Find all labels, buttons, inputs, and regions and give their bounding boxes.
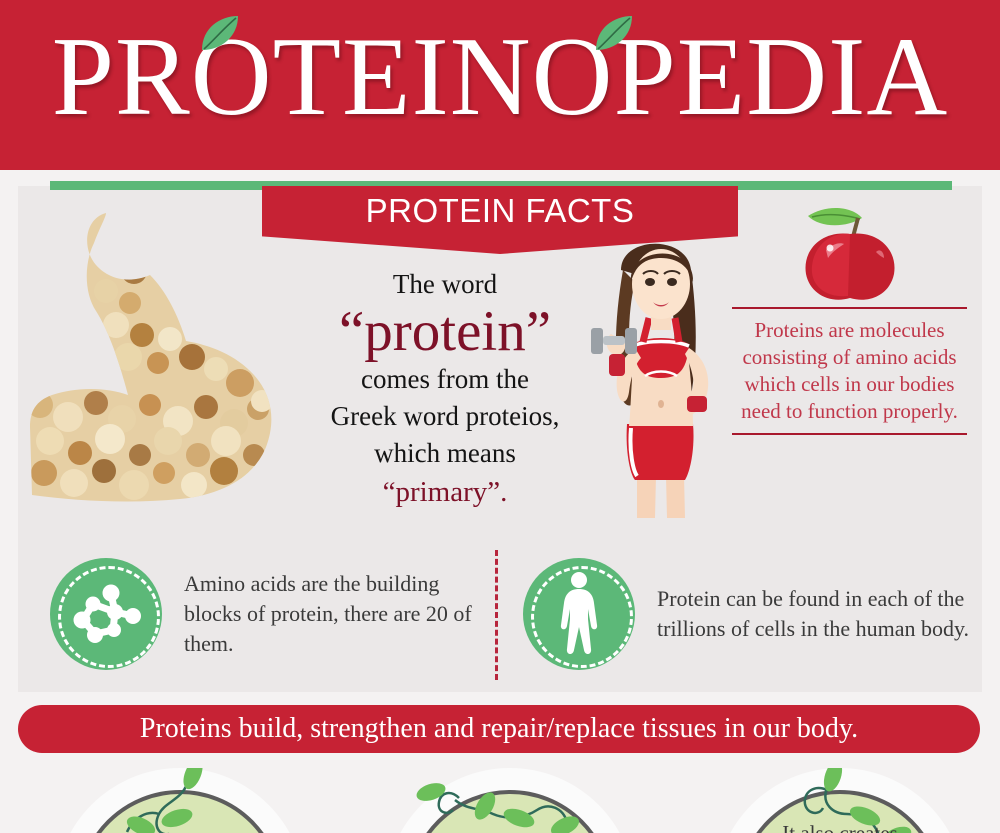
quote-line-2: comes from the [300,361,590,398]
fact-row: Amino acids are the building blocks of p… [18,546,982,686]
human-body-icon [555,571,603,657]
infographic-page: PROTEINOPEDIA PROTEIN FACTS [0,0,1000,833]
right-fact-box: Proteins are molecules consisting of ami… [732,307,967,435]
bottom-circle-3: It also creates [715,768,965,833]
fact-text: Protein can be found in each of the tril… [635,584,973,644]
quote-line-1: The word [300,266,590,303]
vine-leaves-icon [385,768,635,833]
bottom-circle-row: It also creates [0,768,1000,833]
quote-highlight-primary: “primary”. [300,472,590,512]
right-fact-text: Proteins are molecules consisting of ami… [732,309,967,433]
fact-divider [495,550,498,680]
bottom-circle-caption: It also creates [715,820,965,833]
molecule-icon [71,582,141,646]
protein-quote: The word “protein” comes from the Greek … [300,266,590,512]
fitness-woman-dumbbell-image [565,218,745,528]
fact-trillions-cells: Protein can be found in each of the tril… [523,546,973,682]
divider-bottom [732,433,967,435]
page-title: PROTEINOPEDIA [0,18,1000,136]
summary-banner-text: Proteins build, strengthen and repair/re… [140,712,858,746]
vine-leaves-icon [55,768,305,833]
masthead: PROTEINOPEDIA [0,0,1000,170]
fact-text: Amino acids are the building blocks of p… [162,569,480,659]
fact-circle [523,558,635,670]
fact-amino-acids: Amino acids are the building blocks of p… [50,546,480,682]
quote-line-3: Greek word proteios, [300,398,590,435]
quote-line-4: which means [300,435,590,472]
fact-circle [50,558,162,670]
quote-highlight-protein: “protein” [300,301,590,363]
red-apple-image [790,198,910,306]
summary-banner: Proteins build, strengthen and repair/re… [18,705,980,753]
bottom-circle-2 [385,768,635,833]
bottom-circle-1 [55,768,305,833]
nuts-muscle-arm-image [10,205,300,525]
